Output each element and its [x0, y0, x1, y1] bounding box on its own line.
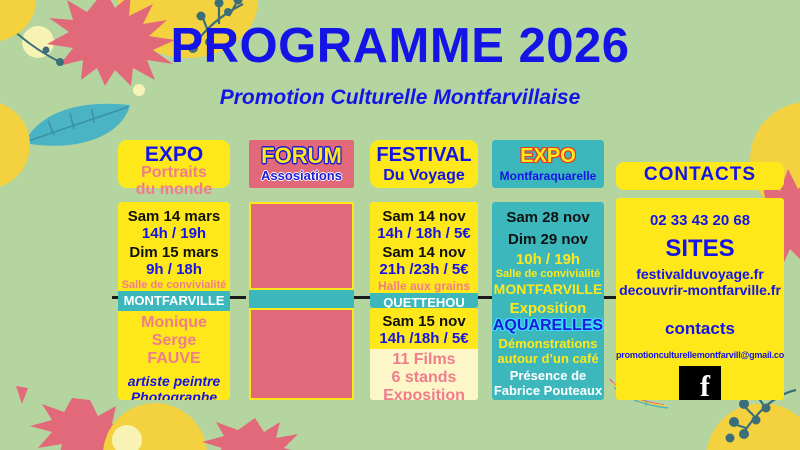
column-body-festival-upper: Sam 14 nov 14h / 18h / 5€ Sam 14 nov 21h… — [370, 202, 478, 308]
expo-artist-name-1: Monique — [118, 314, 230, 332]
column-body-festival-lower: Sam 15 nov 14h /18h / 5€ 11 Films 6 stan… — [370, 308, 478, 400]
contacts-phone[interactable]: 02 33 43 20 68 — [616, 212, 784, 229]
facebook-icon[interactable]: f — [679, 366, 721, 400]
expo-artist-role-1: artiste peintre — [118, 373, 230, 389]
column-header-expo-portraits[interactable]: EXPO Portraits du monde — [118, 140, 230, 188]
aquarelle-line-6: Fabrice Pouteaux — [492, 383, 604, 398]
page-subtitle: Promotion Culturelle Montfarvillaise — [0, 86, 800, 110]
aquarelle-date-2: Dim 29 nov — [492, 231, 604, 248]
header-subtitle: Assosiations — [251, 169, 352, 182]
expo-artist-name-2: Serge — [118, 332, 230, 350]
festival-highlights: 11 Films 6 stands Exposition — [370, 349, 478, 400]
header-title: FORUM — [251, 145, 352, 167]
aquarelle-venue-band: MONTFARVILLE — [492, 280, 604, 299]
column-expo-portraits: EXPO Portraits du monde — [118, 140, 230, 188]
festival-time-2: 21h /23h / 5€ — [370, 261, 478, 278]
expo-date-1: Sam 14 mars — [118, 208, 230, 225]
festival-time-1: 14h / 18h / 5€ — [370, 225, 478, 242]
festival-highlight-1: 11 Films — [370, 351, 478, 369]
maple-leaf-bottom-left — [18, 398, 158, 450]
contacts-email[interactable]: promotionculturellemontfarvill@gmail.com — [616, 350, 784, 360]
festival-date-2: Sam 14 nov — [370, 244, 478, 261]
maple-leaf-bottom-center — [200, 418, 310, 450]
expo-time-2: 9h / 18h — [118, 261, 230, 278]
aquarelle-venue-label: Salle de convivialité — [492, 268, 604, 280]
header-title: EXPO — [494, 146, 602, 166]
expo-time-1: 14h / 19h — [118, 225, 230, 242]
expo-date-2: Dim 15 mars — [118, 244, 230, 261]
header-subtitle: Du Voyage — [372, 168, 476, 184]
column-header-expo-aquarelle[interactable]: EXPO Montfaraquarelle — [492, 140, 604, 188]
column-header-festival[interactable]: FESTIVAL Du Voyage — [370, 140, 478, 188]
aquarelle-line-5: Présence de — [492, 368, 604, 383]
column-body-forum-band — [249, 290, 354, 308]
column-body-forum-lower — [249, 308, 354, 400]
contacts-site-1[interactable]: festivalduvoyage.fr — [616, 266, 784, 282]
expo-artist-name-3: FAUVE — [118, 350, 230, 368]
aquarelle-line-2: AQUARELLES — [492, 317, 604, 335]
column-body-expo-portraits: Sam 14 mars 14h / 19h Dim 15 mars 9h / 1… — [118, 202, 230, 400]
expo-venue-label: Salle de convivialité — [118, 279, 230, 291]
aquarelle-line-4: autour d’un café — [492, 351, 604, 366]
column-expo-aquarelle: EXPO Montfaraquarelle — [492, 140, 604, 188]
header-title: EXPO — [120, 144, 228, 165]
facebook-link[interactable]: f — [616, 366, 784, 400]
festival-date-1: Sam 14 nov — [370, 208, 478, 225]
expo-artist-role-2: Photographe — [118, 389, 230, 400]
header-subtitle: Montfaraquarelle — [494, 170, 602, 182]
header-title: FESTIVAL — [372, 145, 476, 165]
header-subtitle-line1: Portraits — [120, 165, 228, 181]
aquarelle-line-3: Démonstrations — [492, 336, 604, 351]
column-body-contacts: 02 33 43 20 68 SITES festivalduvoyage.fr… — [616, 198, 784, 400]
contacts-site-2[interactable]: decouvrir-montfarville.fr — [616, 282, 784, 298]
aquarelle-line-1: Exposition — [492, 300, 604, 317]
festival-date-3: Sam 15 nov — [370, 313, 478, 330]
header-title: CONTACTS — [618, 165, 782, 184]
aquarelle-time: 10h / 19h — [492, 251, 604, 268]
divider-rule-1 — [228, 296, 246, 299]
festival-venue-label: Halle aux grains — [370, 279, 478, 293]
contacts-sites-label: SITES — [616, 235, 784, 263]
column-contacts: CONTACTS — [616, 162, 784, 190]
column-body-expo-aquarelle: Sam 28 nov Dim 29 nov 10h / 19h Salle de… — [492, 202, 604, 400]
festival-time-3: 14h /18h / 5€ — [370, 330, 478, 347]
festival-highlight-2: 6 stands — [370, 369, 478, 387]
festival-highlight-3: Exposition — [370, 387, 478, 400]
column-header-forum[interactable]: FORUM Assosiations — [249, 140, 354, 188]
column-body-forum-upper — [249, 202, 354, 290]
header-subtitle-line2: du monde — [120, 182, 228, 198]
aquarelle-date-1: Sam 28 nov — [492, 209, 604, 226]
column-festival: FESTIVAL Du Voyage — [370, 140, 478, 188]
poster-canvas: PROGRAMME 2026 Promotion Culturelle Mont… — [0, 0, 800, 450]
expo-venue-band: MONTFARVILLE — [118, 291, 230, 311]
column-forum: FORUM Assosiations — [249, 140, 354, 188]
column-header-contacts[interactable]: CONTACTS — [616, 162, 784, 190]
contacts-label: contacts — [616, 319, 784, 339]
page-title: PROGRAMME 2026 — [0, 18, 800, 74]
festival-venue-band: QUETTEHOU — [370, 293, 478, 308]
